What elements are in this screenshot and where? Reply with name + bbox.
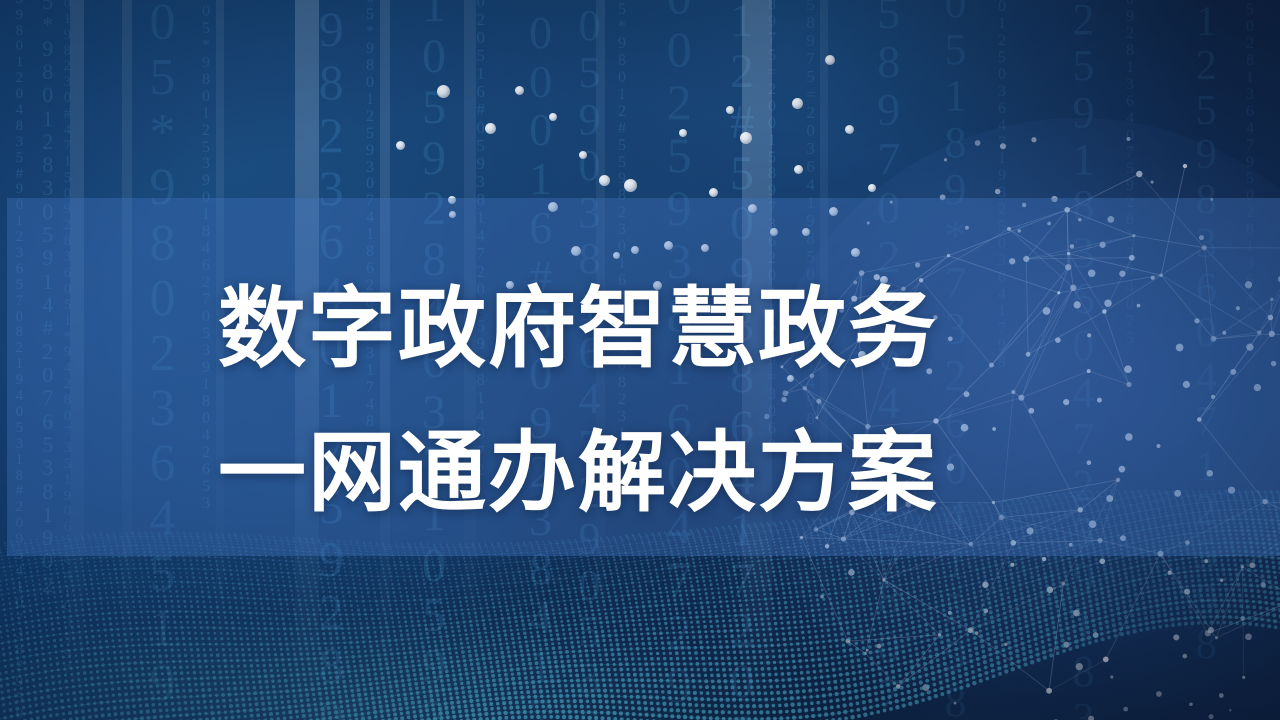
presentation-slide: 8 0 5 9 8 0 1 2 0 4 8 3 5 # 9 0 1 2 3 6 … bbox=[0, 0, 1280, 720]
title-line-2: 一网通办解决方案 bbox=[218, 399, 1018, 547]
title-line-1: 数字政府智慧政务 bbox=[218, 255, 1018, 403]
title-block: 数字政府智慧政务 一网通办解决方案 bbox=[218, 255, 1018, 547]
